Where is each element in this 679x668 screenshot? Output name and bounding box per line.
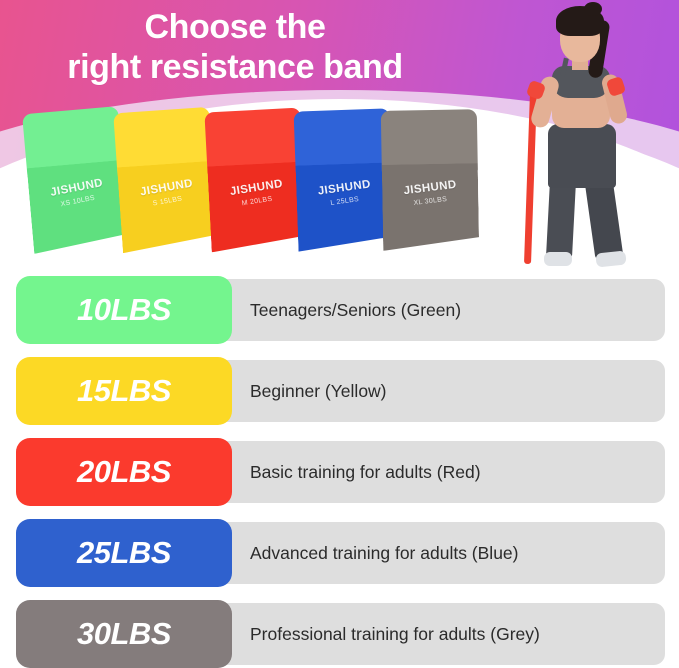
list-item: 10LBS Teenagers/Seniors (Green): [0, 276, 679, 344]
model-leg-right: [585, 178, 624, 259]
page-title-line1: Choose the: [144, 8, 325, 46]
page-title-line2: right resistance band: [0, 47, 470, 87]
weight-label: 10LBS: [77, 292, 171, 328]
hero-banner: Choose the right resistance band JISHUND…: [0, 0, 679, 272]
model-leggings: [548, 124, 616, 188]
list-item: 25LBS Advanced training for adults (Blue…: [0, 519, 679, 587]
row-description: Professional training for adults (Grey): [250, 600, 540, 668]
row-description: Beginner (Yellow): [250, 357, 387, 425]
weight-label: 25LBS: [77, 535, 171, 571]
weight-badge-25lbs[interactable]: 25LBS: [16, 519, 232, 587]
list-item: 20LBS Basic training for adults (Red): [0, 438, 679, 506]
weight-badge-20lbs[interactable]: 20LBS: [16, 438, 232, 506]
band-fold: [381, 109, 478, 173]
model-shoe-left: [544, 252, 572, 266]
row-description: Teenagers/Seniors (Green): [250, 276, 461, 344]
band-product-s: JISHUND S 15LBS: [113, 107, 219, 253]
row-description: Advanced training for adults (Blue): [250, 519, 518, 587]
model-hair-bun: [584, 2, 602, 16]
model-leg-left: [546, 179, 576, 258]
weight-label: 15LBS: [77, 373, 171, 409]
model-photo: [492, 0, 679, 272]
band-product-l: JISHUND L 25LBS: [294, 108, 395, 251]
weight-badge-30lbs[interactable]: 30LBS: [16, 600, 232, 668]
band-product-xl: JISHUND XL 30LBS: [381, 109, 479, 251]
resistance-level-list: 10LBS Teenagers/Seniors (Green) 15LBS Be…: [0, 276, 679, 668]
list-item: 15LBS Beginner (Yellow): [0, 357, 679, 425]
row-description: Basic training for adults (Red): [250, 438, 481, 506]
list-item: 30LBS Professional training for adults (…: [0, 600, 679, 668]
band-product-m: JISHUND M 20LBS: [204, 108, 307, 253]
weight-badge-10lbs[interactable]: 10LBS: [16, 276, 232, 344]
weight-label: 30LBS: [77, 616, 171, 652]
infographic-page: Choose the right resistance band JISHUND…: [0, 0, 679, 668]
resistance-band-lineup: JISHUND XS 10LBS JISHUND S 15LBS JISHUND…: [0, 110, 500, 260]
weight-label: 20LBS: [77, 454, 171, 490]
weight-badge-15lbs[interactable]: 15LBS: [16, 357, 232, 425]
model-shoe-right: [595, 250, 626, 267]
page-title: Choose the right resistance band: [0, 7, 470, 87]
